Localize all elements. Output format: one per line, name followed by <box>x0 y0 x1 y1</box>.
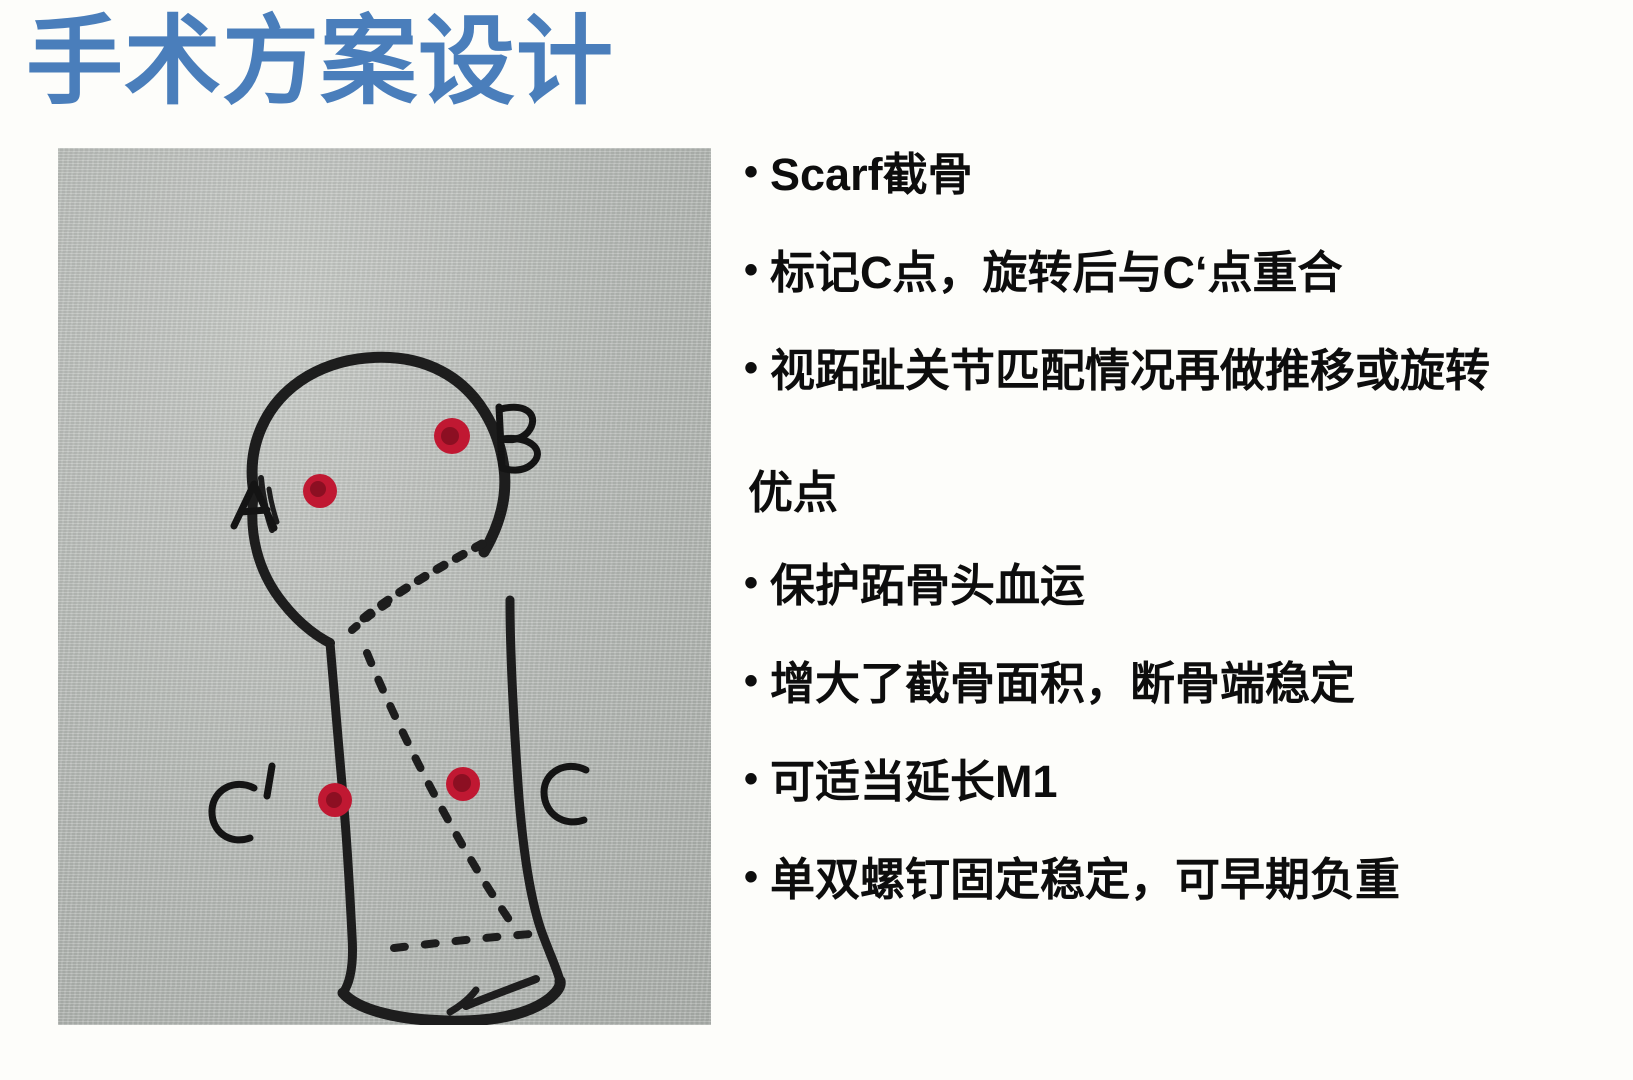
bullet-text: Scarf截骨 <box>770 152 1624 197</box>
marker-dot-b <box>434 418 470 454</box>
marker-dot-a <box>303 474 337 508</box>
section-heading: 优点 <box>744 470 1624 515</box>
list-item: • 增大了截骨面积，断骨端稳定 <box>744 661 1624 706</box>
content-column: • Scarf截骨 • 标记C点，旋转后与C‘点重合 • 视跖趾关节匹配情况再做… <box>744 152 1624 902</box>
marker-dot-c <box>446 767 480 801</box>
list-item: • Scarf截骨 <box>744 152 1624 197</box>
shaft-right-cortex <box>510 600 560 981</box>
page-title: 手术方案设计 <box>26 8 614 117</box>
osteotomy-dashed-line-upper-2 <box>352 598 396 630</box>
section-spacer <box>744 393 1624 470</box>
bullet-text: 单双螺钉固定稳定，可早期负重 <box>770 857 1624 902</box>
bullet-marker-icon: • <box>744 250 770 290</box>
bone-sketch-svg <box>58 148 711 1025</box>
bullet-text: 保护跖骨头血运 <box>770 563 1624 608</box>
bullet-marker-icon: • <box>744 348 770 388</box>
bullet-marker-icon: • <box>744 152 770 192</box>
longitudinal-osteotomy-dashed <box>367 653 510 921</box>
bullet-marker-icon: • <box>744 661 770 701</box>
shaft-left-cortex <box>330 643 353 993</box>
label-b-glyph <box>499 407 537 470</box>
bullet-marker-icon: • <box>744 759 770 799</box>
metatarsal-head-left-flank <box>252 493 330 643</box>
list-item: • 视跖趾关节匹配情况再做推移或旋转 <box>744 348 1624 393</box>
label-c-glyph <box>544 766 586 821</box>
list-item: • 标记C点，旋转后与C‘点重合 <box>744 250 1624 295</box>
bullet-text: 增大了截骨面积，断骨端稳定 <box>770 661 1624 706</box>
label-c-prime-glyph <box>212 766 272 840</box>
base-dashed-line <box>394 933 544 948</box>
list-item: • 保护跖骨头血运 <box>744 563 1624 608</box>
bullet-marker-icon: • <box>744 563 770 603</box>
surgical-sketch-image <box>58 148 711 1025</box>
marker-dot-c-prime <box>318 783 352 817</box>
metatarsal-head-outline <box>252 357 505 552</box>
list-item: • 单双螺钉固定稳定，可早期负重 <box>744 857 1624 902</box>
list-item: • 可适当延长M1 <box>744 759 1624 804</box>
bullet-marker-icon: • <box>744 857 770 897</box>
bullet-text: 标记C点，旋转后与C‘点重合 <box>770 250 1624 295</box>
bullet-text: 视跖趾关节匹配情况再做推移或旋转 <box>770 348 1624 393</box>
bullet-text: 可适当延长M1 <box>770 759 1624 804</box>
